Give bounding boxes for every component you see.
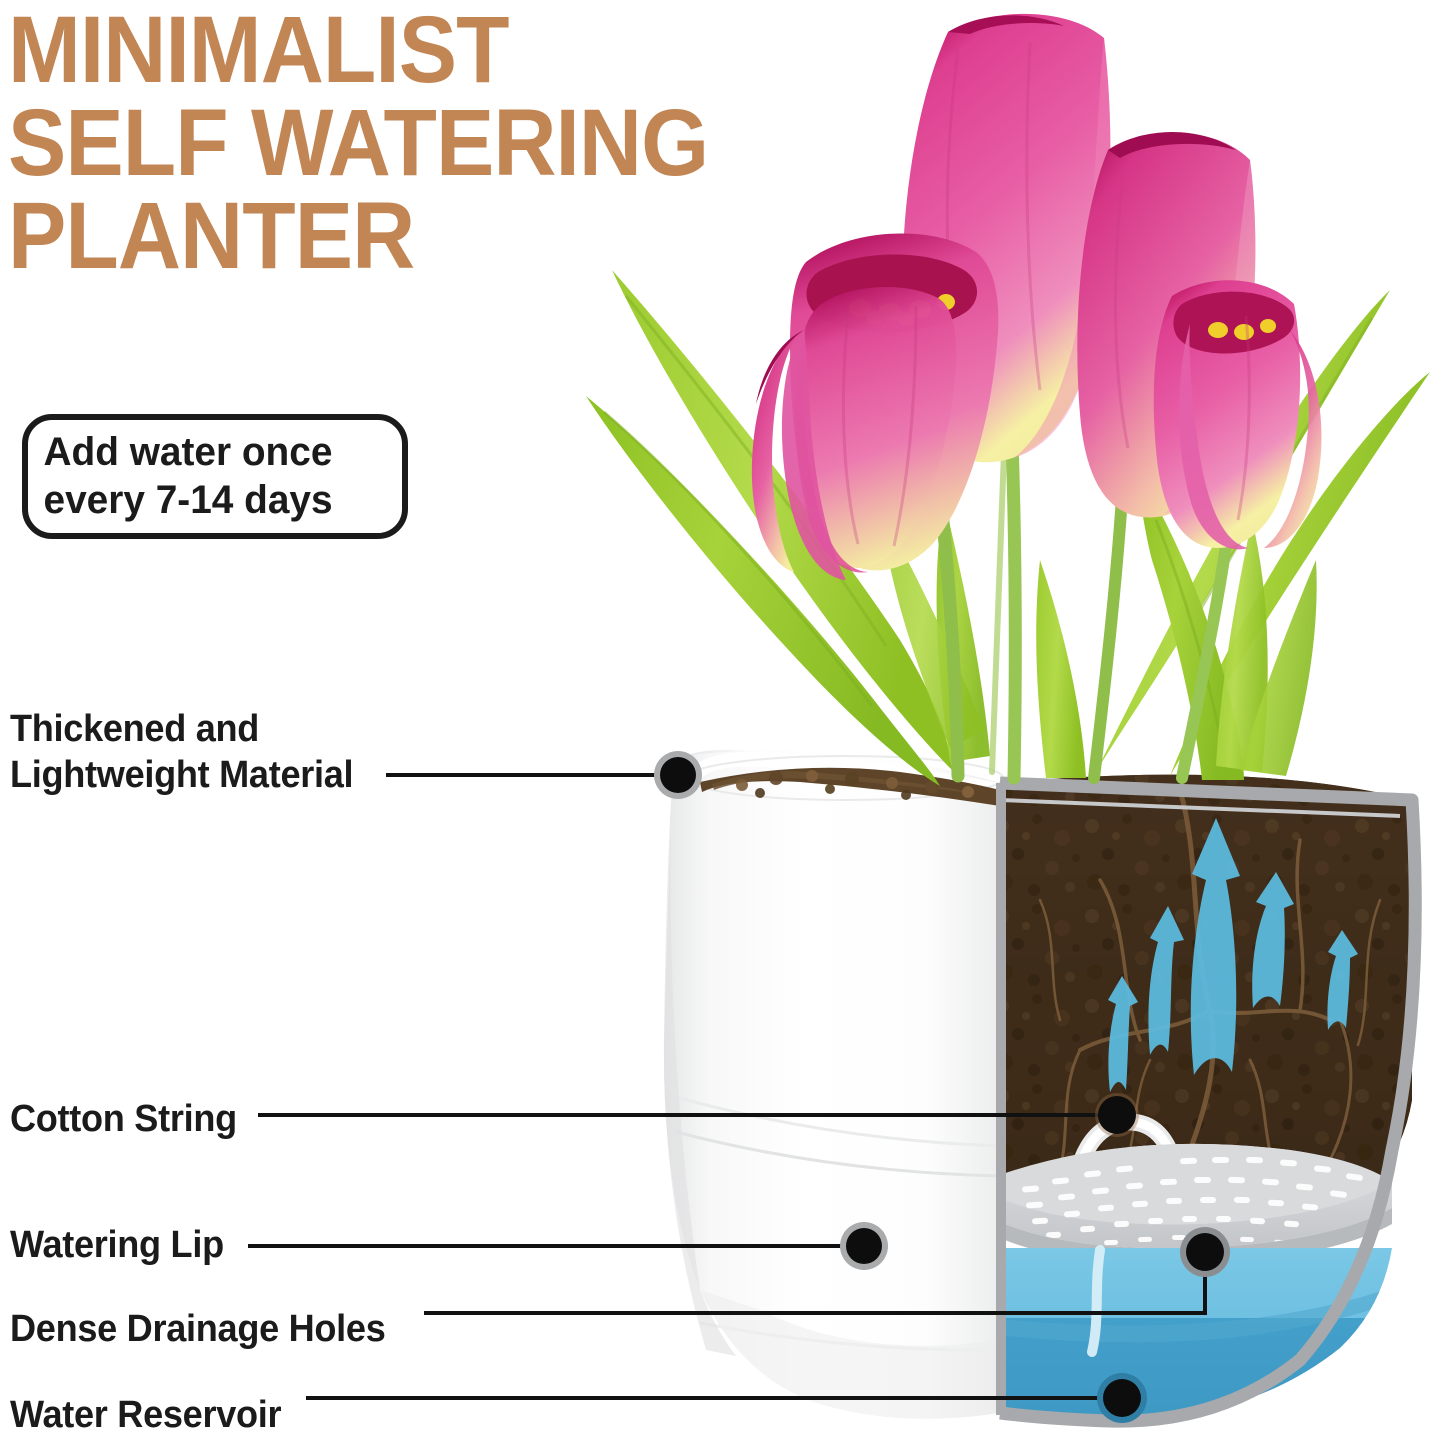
callout-dot-dense-drainage-holes xyxy=(1180,1227,1230,1277)
cutaway-cut-line xyxy=(996,783,1006,1415)
callout-dot-water-reservoir xyxy=(1097,1373,1147,1423)
planter-cutaway-section xyxy=(990,760,1420,1430)
callout-dot-thickened-lightweight-material xyxy=(654,751,702,799)
planter-cutaway-illustration xyxy=(0,0,1445,1430)
tulip-flower-5 xyxy=(1154,280,1322,549)
infographic-canvas: MINIMALIST SELF WATERING PLANTER Add wat… xyxy=(0,0,1445,1430)
planter-body xyxy=(664,750,1005,1419)
tulip-plant xyxy=(586,14,1430,786)
planter-outer-wall xyxy=(664,751,1000,1419)
leaf-5 xyxy=(1036,560,1086,778)
callout-dot-watering-lip xyxy=(840,1222,888,1270)
callout-dot-cotton-string xyxy=(1095,1093,1139,1137)
